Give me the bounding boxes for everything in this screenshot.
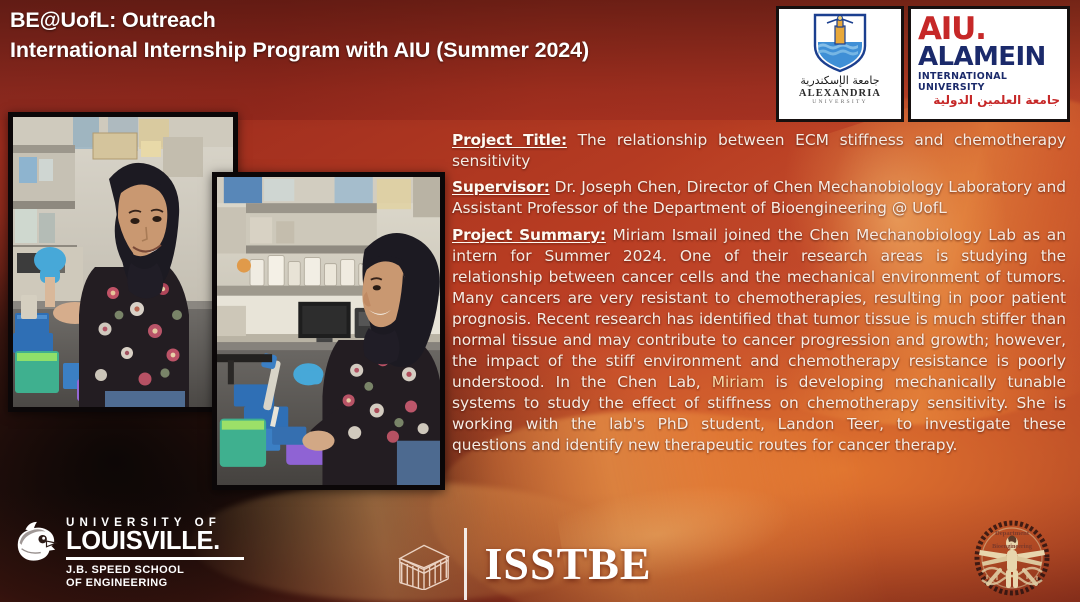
uofl-divider-rule [66,557,244,560]
isstbe-divider [464,528,467,600]
photo-student-pipetting-at-bench [212,172,445,490]
photo-student-smiling-in-lab [8,112,238,412]
aiu-abbrev: AIU. [918,14,1060,45]
summary-text-part-1: Miriam Ismail joined the Chen Mechanobio… [452,226,1066,391]
summary-intern-name-highlight: Miriam [712,373,765,391]
svg-text:of: of [1010,538,1014,543]
vitruvian-man-dna-icon: Department of Bioengineering [977,523,1047,593]
svg-text:Department: Department [995,530,1030,537]
alexandria-university-logo: جامعة الإسكندرية ALEXANDRIA UNIVERSITY [776,6,904,122]
aiu-arabic: جامعة العلمين الدولية [918,93,1060,107]
university-of-louisville-logo: UNIVERSITY OF LOUISVILLE. J.B. SPEED SCH… [12,516,244,591]
project-summary-paragraph: Project Summary: Miriam Ismail joined th… [452,225,1066,456]
uofl-school-line-1: J.B. SPEED SCHOOL [66,564,244,578]
presentation-slide: BE@UofL: Outreach International Internsh… [0,0,1080,602]
uofl-name: LOUISVILLE. [66,528,244,554]
lighthouse-shield-icon [809,12,871,74]
alexandria-english-sub: UNIVERSITY [779,99,901,105]
supervisor-label: Supervisor: [452,178,550,196]
alexandria-english-name: ALEXANDRIA [779,88,901,99]
isstbe-logo: ISSTBE [396,528,652,600]
photo-1-image [13,117,233,407]
aiu-subtitle: INTERNATIONAL UNIVERSITY [918,71,1060,93]
project-summary-label: Project Summary: [452,226,606,244]
supervisor-paragraph: Supervisor: Dr. Joseph Chen, Director of… [452,177,1066,219]
project-title-label: Project Title: [452,131,567,149]
svg-text:Bioengineering: Bioengineering [992,543,1033,550]
photo-2-image [217,177,440,485]
header-title-line-1: BE@UofL: Outreach [10,5,770,35]
greek-temple-icon [396,538,452,590]
department-of-bioengineering-seal: Department of Bioengineering [960,518,1064,598]
project-text-panel: Project Title: The relationship between … [452,130,1066,457]
cardinal-bird-icon [12,520,58,566]
aiu-logo: AIU. ALAMEIN INTERNATIONAL UNIVERSITY جا… [908,6,1070,122]
header-title-line-2: International Internship Program with AI… [10,35,770,65]
isstbe-acronym: ISSTBE [485,540,652,588]
alexandria-arabic-text: جامعة الإسكندرية [779,75,901,87]
slide-header: BE@UofL: Outreach International Internsh… [10,5,770,65]
uofl-school-line-2: OF ENGINEERING [66,577,244,591]
project-title-paragraph: Project Title: The relationship between … [452,130,1066,172]
aiu-city: ALAMEIN [918,44,1060,71]
